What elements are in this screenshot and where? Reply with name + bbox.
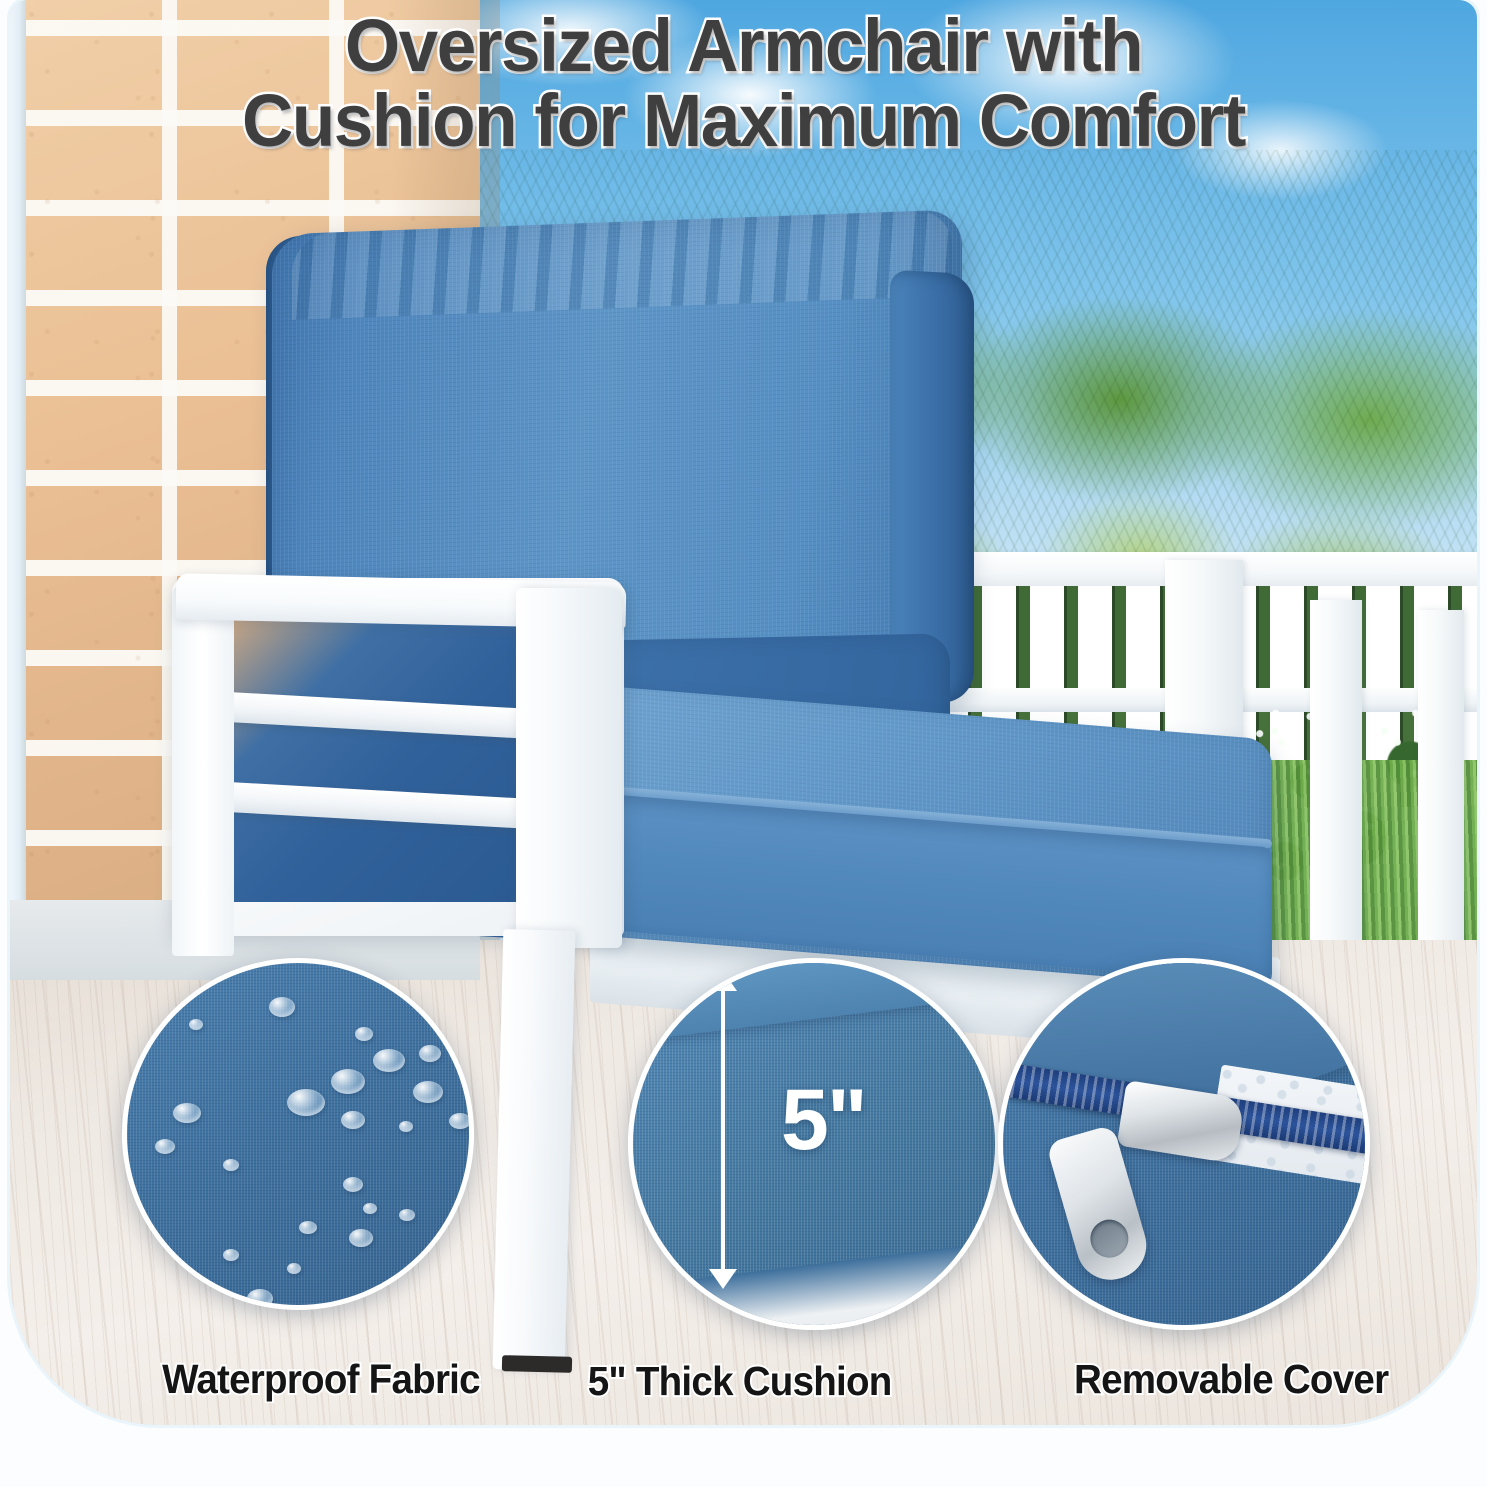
water-droplets-icon: [343, 1177, 363, 1192]
product-feature-poster: 5" Oversized Armchair with Cushion for M…: [0, 0, 1487, 1487]
water-droplets-icon: [173, 1103, 201, 1123]
feature-circle-waterproof-fabric: [122, 958, 474, 1310]
feature-caption-removable-cover: Removable Cover: [1074, 1356, 1388, 1403]
water-droplets-icon: [331, 1069, 365, 1094]
water-droplets-icon: [419, 1045, 441, 1062]
water-droplets-icon: [399, 1209, 415, 1221]
water-droplets-icon: [189, 1019, 203, 1030]
water-droplets-icon: [155, 1139, 175, 1154]
headline-line-1: Oversized Armchair with: [30, 8, 1458, 83]
armrest-opening: [220, 612, 538, 902]
water-droplets-icon: [341, 1111, 365, 1129]
water-droplets-icon: [177, 1279, 199, 1295]
water-droplets-icon: [449, 1113, 471, 1129]
dimension-line: [721, 987, 725, 1287]
feature-circle-removable-cover: [998, 958, 1370, 1330]
page-title: Oversized Armchair with Cushion for Maxi…: [30, 8, 1458, 159]
water-droplets-icon: [269, 997, 295, 1017]
armrest-opening-backdrop: [220, 612, 538, 902]
water-droplets-icon: [349, 1229, 373, 1247]
water-droplets-icon: [287, 1089, 325, 1116]
armrest-back-post: [172, 586, 234, 956]
water-droplets-icon: [287, 1263, 301, 1274]
vertical-dimension-arrow-icon: [709, 1269, 737, 1289]
water-droplets-icon: [223, 1159, 239, 1171]
water-droplets-icon: [373, 1049, 405, 1072]
armrest-front-post: [516, 588, 622, 948]
water-droplets-icon: [399, 1121, 413, 1132]
chair-leg-front: [493, 929, 576, 1371]
water-droplets-icon: [413, 1081, 443, 1103]
product-photo-plate: 5": [10, 0, 1477, 1425]
headline-line-2: Cushion for Maximum Comfort: [30, 83, 1458, 158]
water-droplets-icon: [355, 1027, 373, 1041]
chair-foot-cap: [502, 1355, 572, 1373]
fabric-texture: [127, 963, 469, 1305]
dimension-label: 5": [781, 1071, 866, 1170]
water-droplets-icon: [223, 1249, 239, 1261]
water-droplets-icon: [299, 1221, 317, 1234]
feature-caption-waterproof-fabric: Waterproof Fabric: [162, 1356, 480, 1403]
water-droplets-icon: [363, 1203, 377, 1214]
feature-circle-thick-cushion: 5": [628, 958, 1000, 1330]
feature-caption-thick-cushion: 5" Thick Cushion: [588, 1358, 892, 1405]
